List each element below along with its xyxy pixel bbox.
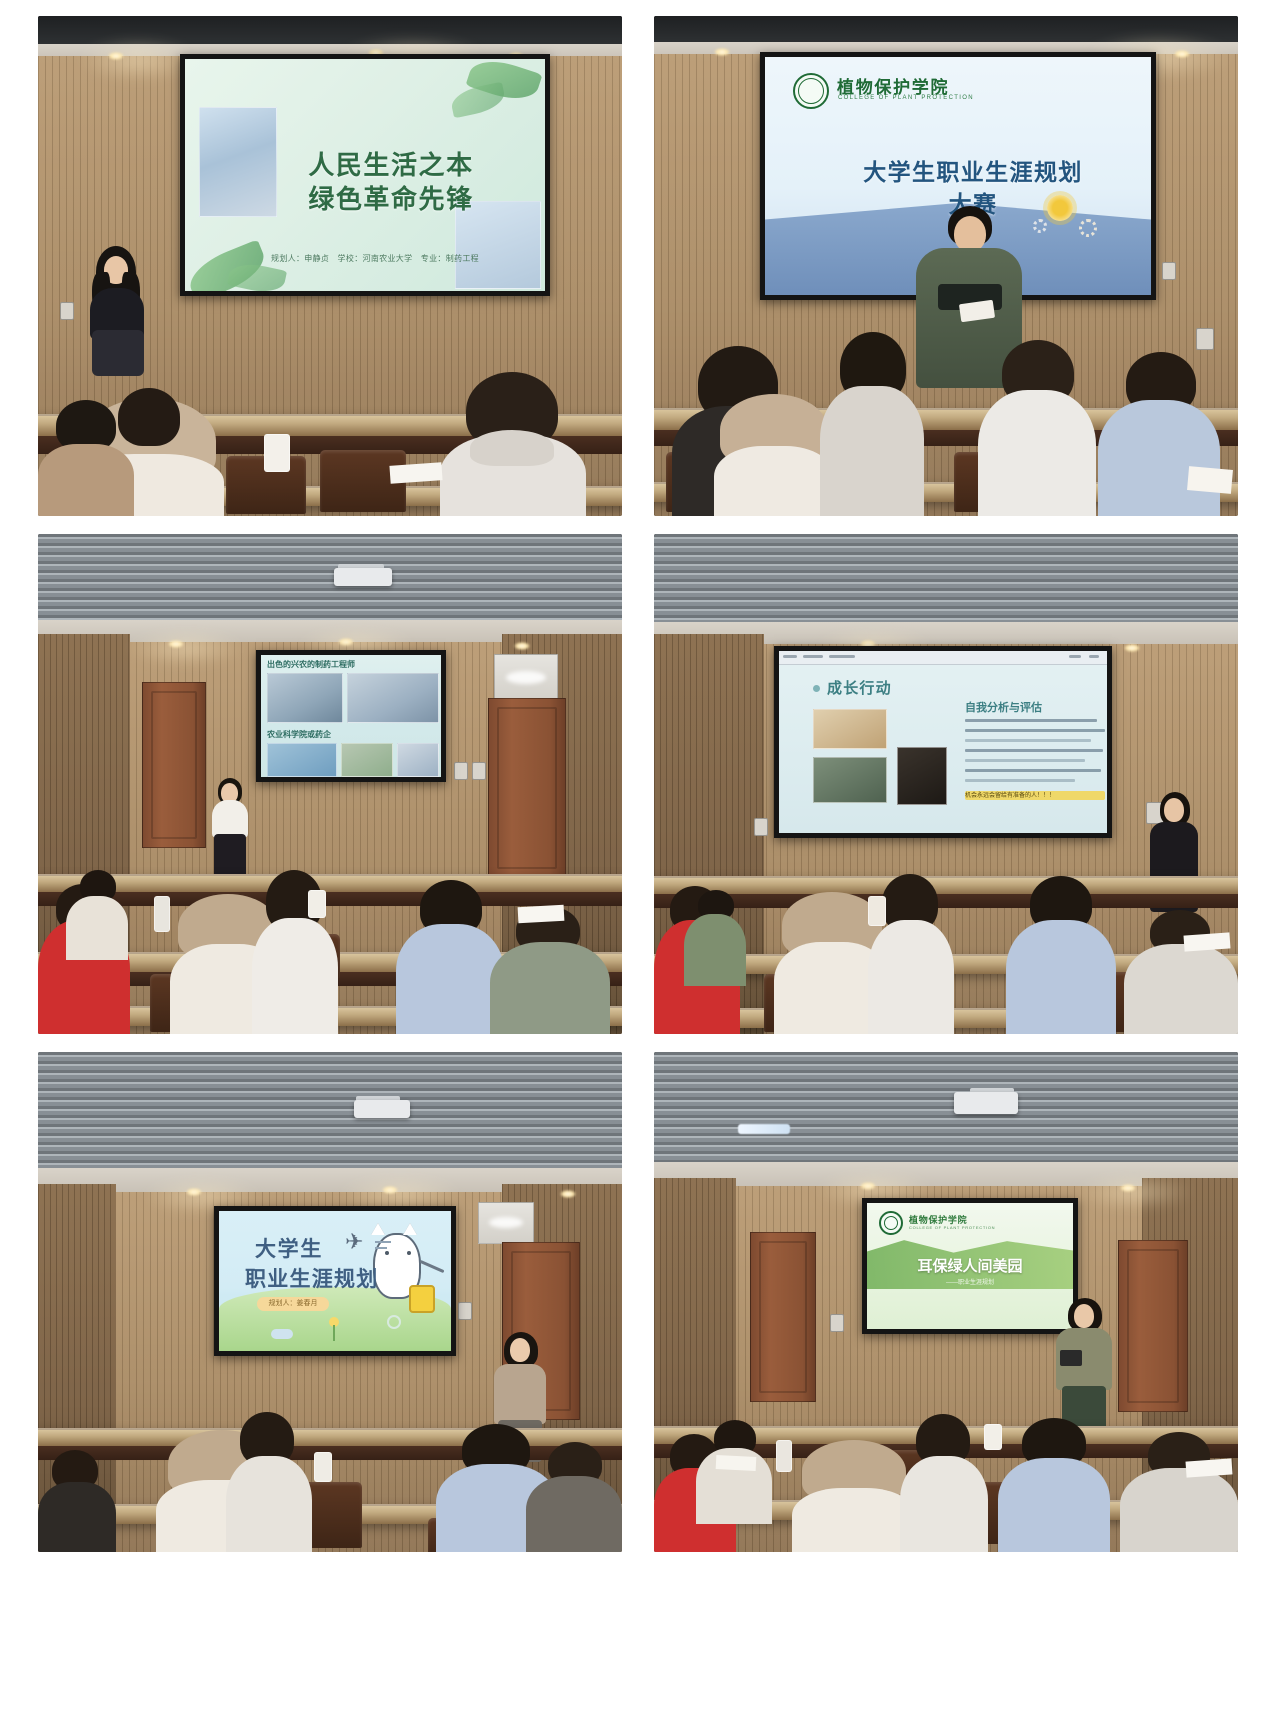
ceiling-slats xyxy=(654,1052,1238,1170)
thermos-cup xyxy=(264,434,290,472)
ceiling-slats xyxy=(38,1052,622,1176)
photo-4: 成长行动 自我分析与评估 机会永远会留给有准备的人！！！ xyxy=(654,534,1238,1034)
college-emblem-icon xyxy=(793,73,829,109)
paper-plane-icon: ✈ xyxy=(345,1231,363,1253)
downlight xyxy=(714,48,730,56)
audience-member xyxy=(998,1418,1110,1552)
ceiling-slats xyxy=(654,534,1238,630)
gear-graphic xyxy=(1033,219,1047,233)
projector xyxy=(954,1092,1018,1114)
photo-1: 人民生活之本 绿色革命先锋 规划人：申静贞 学校：河南农业大学 专业：制药工程 xyxy=(38,16,622,516)
downlight xyxy=(108,52,124,60)
campus-photo xyxy=(397,743,439,777)
audience-member xyxy=(1006,876,1116,1034)
lab-worker-photo xyxy=(267,673,343,723)
gear-graphic xyxy=(1079,219,1097,237)
audience-member xyxy=(66,870,128,960)
door-right xyxy=(488,698,566,878)
thermos-cup xyxy=(984,1424,1002,1450)
building-photo-left xyxy=(199,107,277,217)
cat-ear-icon xyxy=(371,1223,385,1235)
audience-member xyxy=(396,880,504,1034)
audience-member xyxy=(820,332,924,516)
yellow-suitcase-icon xyxy=(409,1285,435,1313)
highlight-text: 机会永远会留给有准备的人！！！ xyxy=(965,790,1107,799)
audience-member xyxy=(38,1450,116,1552)
door-left xyxy=(142,682,206,848)
cat-eye-icon xyxy=(385,1251,389,1255)
thermos-cup xyxy=(314,1452,332,1482)
audience-member xyxy=(226,1412,312,1552)
bullet-dot-icon xyxy=(813,685,820,692)
flower-stem xyxy=(333,1325,335,1341)
light-glow xyxy=(126,630,246,666)
paper-sheet xyxy=(1185,1458,1232,1477)
wall-outlet xyxy=(60,302,74,320)
audience-member xyxy=(1124,910,1238,1034)
slide-heading: 出色的兴农的制药工程师 xyxy=(267,659,355,670)
held-notebook xyxy=(1060,1350,1082,1366)
thermos-cup xyxy=(868,896,886,926)
cloud-icon xyxy=(387,1315,401,1329)
door-left xyxy=(750,1232,816,1402)
light-glow xyxy=(1074,1174,1194,1210)
thermos-bottle xyxy=(776,1440,792,1472)
projector-screen: ✈ 大学生 职业生涯规划 规划人：姜春月 xyxy=(214,1206,456,1356)
presenter xyxy=(206,778,252,888)
paper-sheet xyxy=(1187,466,1233,494)
thermos-bottle xyxy=(154,896,170,932)
slide-6: 植物保护学院 COLLEGE OF PLANT PROTECTION 耳保绿人间… xyxy=(867,1203,1073,1329)
audience-member xyxy=(38,400,134,516)
paper-sheet xyxy=(389,462,442,484)
ceiling-ac-panel xyxy=(478,1202,534,1244)
photo-2: 植物保护学院 COLLEGE OF PLANT PROTECTION 大学 xyxy=(654,16,1238,516)
downlight xyxy=(514,642,530,650)
projector-screen: 成长行动 自我分析与评估 机会永远会留给有准备的人！！！ xyxy=(774,646,1112,838)
slide-title-line1: 大学生 xyxy=(255,1233,323,1263)
projector xyxy=(354,1100,410,1118)
slide-subheading: 农业科学院或药企 xyxy=(267,729,331,740)
audience-member xyxy=(490,906,610,1034)
campus-photo xyxy=(341,743,393,777)
audience-member xyxy=(900,1414,988,1552)
section-title: 自我分析与评估 xyxy=(965,699,1042,715)
slide-5: ✈ 大学生 职业生涯规划 规划人：姜春月 xyxy=(219,1211,451,1351)
ppt-toolbar xyxy=(779,651,1107,665)
logo-text-en: COLLEGE OF PLANT PROTECTION xyxy=(838,95,974,101)
wall-outlet xyxy=(754,818,768,836)
thermos-cup xyxy=(308,890,326,918)
photo-thumbnail xyxy=(813,709,887,749)
photo-collage-grid: 人民生活之本 绿色革命先锋 规划人：申静贞 学校：河南农业大学 专业：制药工程 xyxy=(0,0,1284,1712)
photo-5: ✈ 大学生 职业生涯规划 规划人：姜春月 xyxy=(38,1052,622,1552)
slide-title-line1: 人民生活之本 xyxy=(281,145,501,182)
ceiling-light-panel xyxy=(738,1124,790,1134)
wall-outlet xyxy=(1162,262,1176,280)
presenter xyxy=(78,246,158,376)
audience-member xyxy=(1120,1432,1238,1552)
projector-screen: 植物保护学院 COLLEGE OF PLANT PROTECTION 耳保绿人间… xyxy=(862,1198,1078,1334)
slide-1: 人民生活之本 绿色革命先锋 规划人：申静贞 学校：河南农业大学 专业：制药工程 xyxy=(185,59,545,291)
audience-member xyxy=(696,1420,772,1524)
slide-subtitle: 规划人：申静贞 学校：河南农业大学 专业：制药工程 xyxy=(225,253,525,264)
cloud-icon xyxy=(271,1329,293,1339)
factory-photo xyxy=(347,673,439,723)
paper-sheet xyxy=(518,905,565,923)
slide-title-line1: 大学生职业生涯规划 xyxy=(805,153,1141,187)
wall-outlet xyxy=(458,1302,472,1320)
downlight xyxy=(1174,50,1190,58)
piano-photo xyxy=(897,747,947,805)
slide-subtitle: ——职业生涯规划 xyxy=(867,1277,1073,1286)
college-emblem-icon xyxy=(879,1211,903,1235)
cat-ear-icon xyxy=(403,1223,417,1235)
downlight xyxy=(560,1190,576,1198)
slide-heading: 成长行动 xyxy=(827,677,892,698)
wall-outlet xyxy=(830,1314,844,1332)
slide-title-line2: 职业生涯规划 xyxy=(245,1263,379,1293)
ceiling-ac-panel xyxy=(494,654,558,702)
projector-screen: 出色的兴农的制药工程师 农业科学院或药企 xyxy=(256,650,446,782)
ceiling-slats xyxy=(38,534,622,626)
projector xyxy=(334,568,392,586)
audience-member xyxy=(714,382,834,516)
photo-6: 植物保护学院 COLLEGE OF PLANT PROTECTION 耳保绿人间… xyxy=(654,1052,1238,1552)
slide-title-line2: 绿色革命先锋 xyxy=(281,179,501,216)
wall-outlet xyxy=(1196,328,1214,350)
photo-3: 出色的兴农的制药工程师 农业科学院或药企 xyxy=(38,534,622,1034)
campus-photo xyxy=(267,743,337,777)
slide-4: 成长行动 自我分析与评估 机会永远会留给有准备的人！！！ xyxy=(779,651,1107,833)
presenter-name-chip: 规划人：姜春月 xyxy=(257,1297,329,1311)
paper-sheet xyxy=(1183,932,1230,951)
audience-member xyxy=(436,372,586,516)
paper-sheet xyxy=(716,1455,757,1471)
audience-member xyxy=(684,890,746,986)
audience-member xyxy=(526,1442,622,1552)
door-right xyxy=(1118,1240,1188,1412)
audience-member xyxy=(792,1438,916,1552)
presenter xyxy=(1052,1298,1116,1434)
projector-screen: 人民生活之本 绿色革命先锋 规划人：申静贞 学校：河南农业大学 专业：制药工程 xyxy=(180,54,550,296)
slide-3: 出色的兴农的制药工程师 农业科学院或药企 xyxy=(261,655,441,777)
slide-title-line1: 耳保绿人间美园 xyxy=(867,1255,1073,1276)
wall-outlet xyxy=(472,762,486,780)
downlight xyxy=(1124,644,1140,652)
cat-eye-icon xyxy=(407,1251,411,1255)
plant-photo xyxy=(813,757,887,803)
wall-outlet xyxy=(454,762,468,780)
audience-member xyxy=(978,340,1096,516)
